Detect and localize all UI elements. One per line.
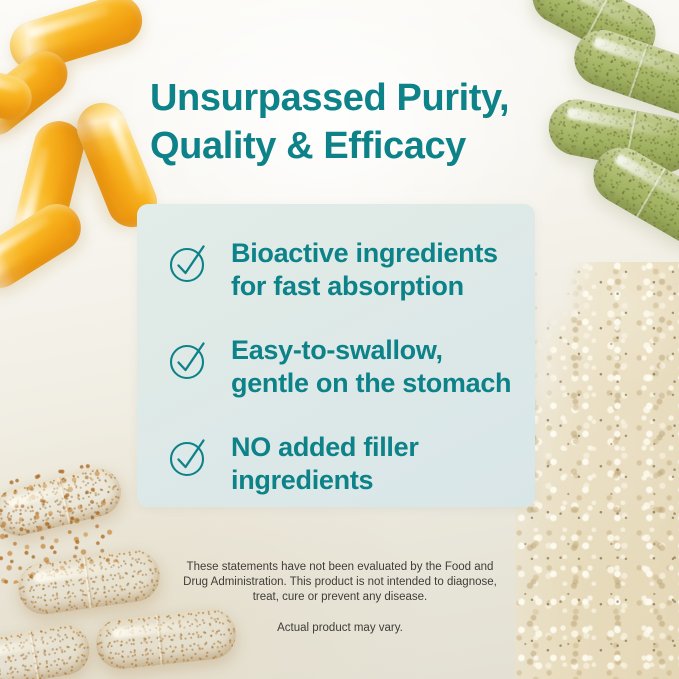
powder-grain-texture [515,262,679,679]
benefit-label: NO added filler ingredients [231,430,419,497]
product-benefits-infographic: Unsurpassed Purity, Quality & Efficacy B… [0,0,679,679]
product-variance-note: Actual product may vary. [118,621,562,636]
page-title: Unsurpassed Purity, Quality & Efficacy [150,74,580,170]
powder-body [515,262,679,679]
benefit-item: Bioactive ingredients for fast absorptio… [167,236,521,303]
amber-capsule [0,621,93,679]
check-circle-icon [167,336,213,382]
amber-capsule [94,607,238,671]
benefit-label: Easy-to-swallow, gentle on the stomach [231,333,511,400]
powder-flecks [515,262,679,679]
check-circle-icon [167,239,213,285]
fda-disclaimer: These statements have not been evaluated… [118,560,562,606]
benefit-label: Bioactive ingredients for fast absorptio… [231,236,498,303]
softgel-capsule [0,195,90,297]
benefits-list: Bioactive ingredients for fast absorptio… [167,236,521,497]
amber-capsule [0,463,126,541]
check-circle-icon [167,433,213,479]
benefit-item: Easy-to-swallow, gentle on the stomach [167,333,521,400]
benefit-item: NO added filler ingredients [167,430,521,497]
protein-powder-mound [515,262,679,679]
benefits-panel: Bioactive ingredients for fast absorptio… [137,204,535,507]
capsule-speckle-texture [94,607,238,671]
